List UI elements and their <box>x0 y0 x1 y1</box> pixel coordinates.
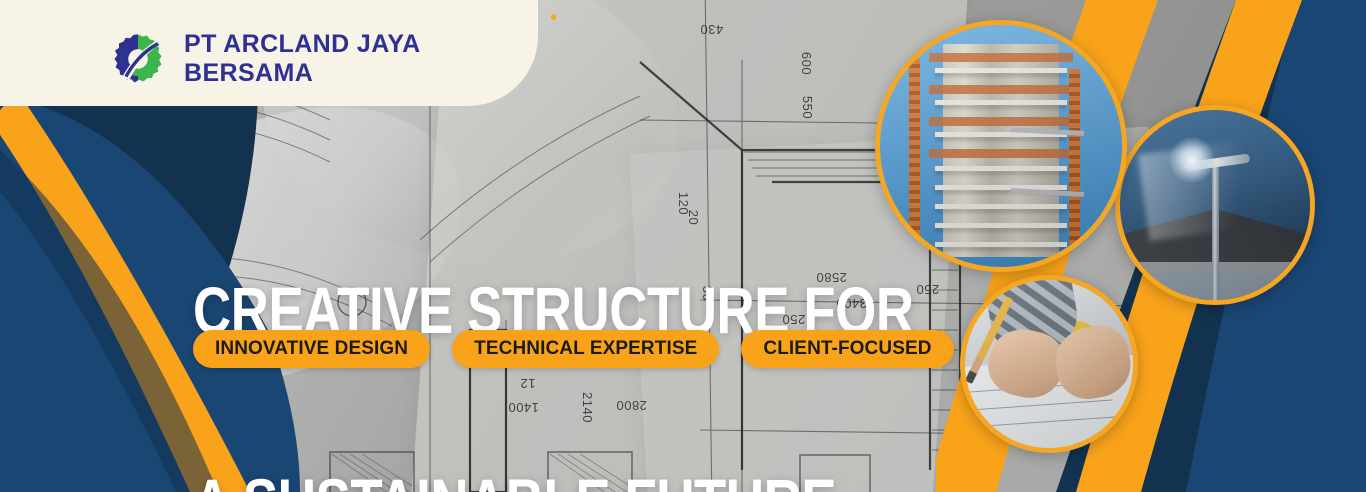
logo-panel: PT ARCLAND JAYA BERSAMA <box>0 0 538 106</box>
crane-mast <box>1069 69 1080 253</box>
tag-innovative-design[interactable]: INNOVATIVE DESIGN <box>193 330 430 368</box>
company-name: PT ARCLAND JAYA BERSAMA <box>184 30 538 88</box>
photo-street-light-night <box>1115 105 1315 305</box>
dimension-label: 250 <box>916 282 939 297</box>
dimension-label: 0. <box>138 294 153 306</box>
headline-line-2: A SUSTAINABLE FUTURE <box>193 470 914 492</box>
dimension-label: 600 <box>799 52 814 75</box>
promotional-banner: 120 1200 600 550 250 2580 3400 30 250 28… <box>0 0 1366 492</box>
gear-swoosh-logo-icon <box>110 31 166 87</box>
building-tower <box>943 44 1059 257</box>
photo-architect-drafting <box>960 275 1138 453</box>
dimension-label: 550 <box>800 96 815 119</box>
hero-headline: CREATIVE STRUCTURE FOR A SUSTAINABLE FUT… <box>193 150 914 492</box>
feature-tag-list: INNOVATIVE DESIGN TECHNICAL EXPERTISE CL… <box>193 330 954 368</box>
dimension-label: 430 <box>700 22 723 37</box>
tag-client-focused[interactable]: CLIENT-FOCUSED <box>741 330 953 368</box>
lamp-glow <box>1169 137 1215 183</box>
tag-technical-expertise[interactable]: TECHNICAL EXPERTISE <box>452 330 719 368</box>
lamp-pole <box>1212 163 1219 300</box>
